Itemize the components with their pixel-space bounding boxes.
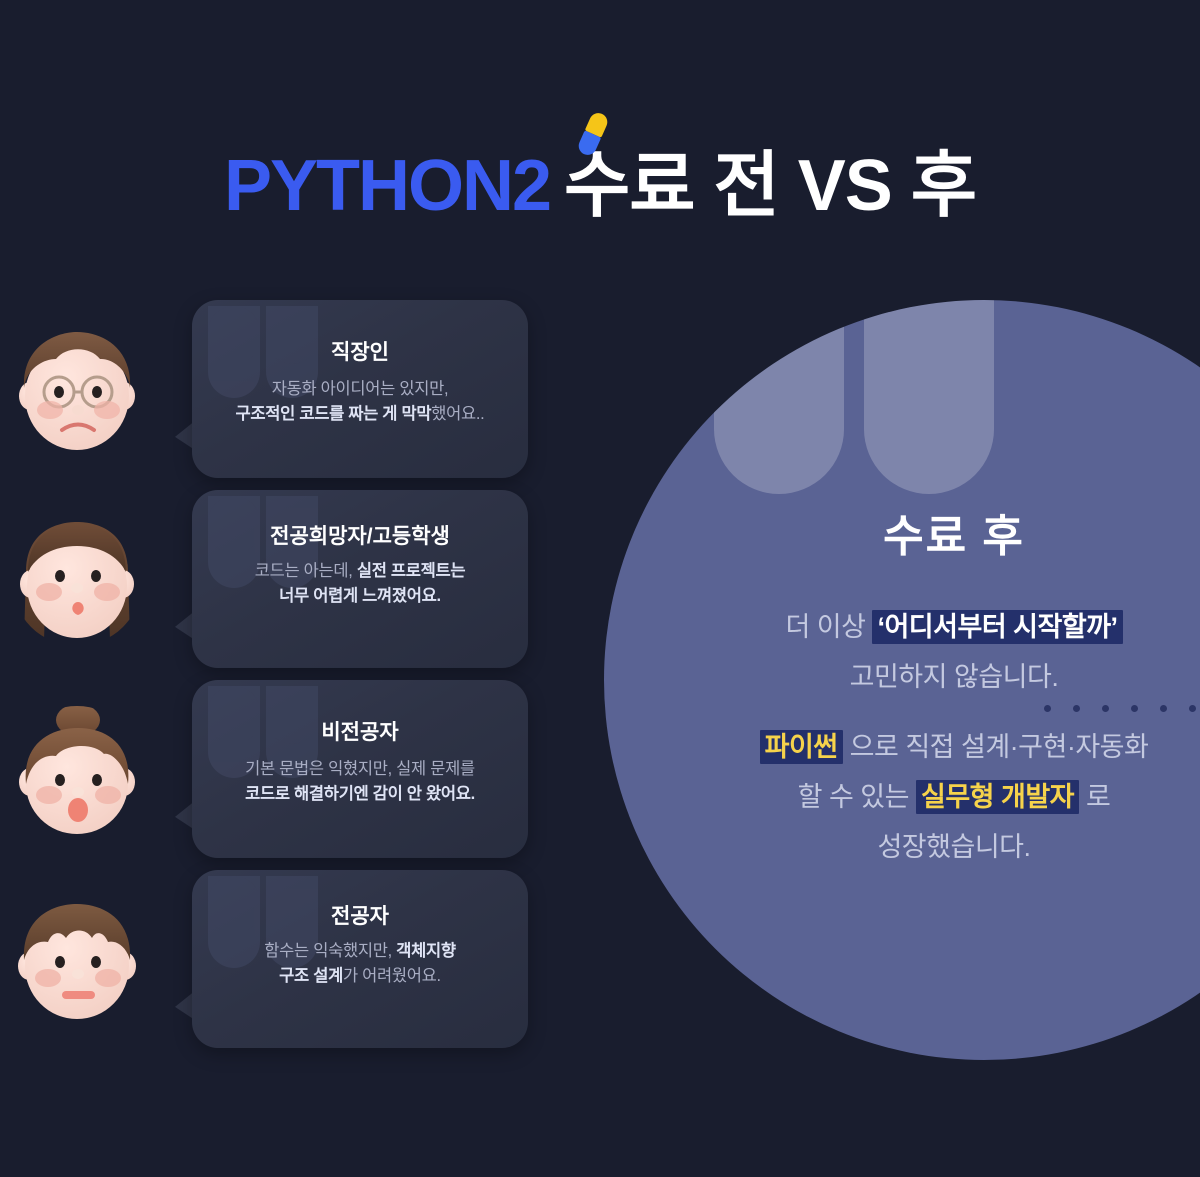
testimonial-line-1: 자동화 아이디어는 있지만, [210,377,510,402]
testimonial-line-2: 구조적인 코드를 짜는 게 막막했어요.. [210,402,510,427]
face-boy-bowlcut-neutral-icon [12,896,142,1026]
after-line-1: 더 이상 ‘어디서부터 시작할까’ [604,605,1200,644]
highlight-python: 파이썬 [760,730,843,764]
testimonial-role: 전공자 [210,906,510,927]
face-man-glasses-frown-icon [12,326,142,456]
testimonial-row: 비전공자 기본 문법은 익혔지만, 실제 문제를 코드로 해결하기엔 감이 안 … [0,680,560,870]
after-heading: 수료 후 [604,500,1200,564]
after-circle-panel: 수료 후 더 이상 ‘어디서부터 시작할까’ 고민하지 않습니다. 파이썬 으로… [604,300,1200,1060]
testimonial-line-2: 너무 어렵게 느껴졌어요. [210,584,510,609]
speech-bubble: 전공희망자/고등학생 코드는 아는데, 실전 프로젝트는 너무 어렵게 느껴졌어… [192,490,528,668]
speech-bubble: 직장인 자동화 아이디어는 있지만, 구조적인 코드를 짜는 게 막막했어요.. [192,300,528,478]
before-testimonials-list: 직장인 자동화 아이디어는 있지만, 구조적인 코드를 짜는 게 막막했어요.. [0,300,560,1060]
testimonial-role: 직장인 [210,342,510,363]
face-woman-bun-surprised-icon [12,706,142,836]
testimonial-role: 전공희망자/고등학생 [210,526,510,547]
testimonial-row: 직장인 자동화 아이디어는 있지만, 구조적인 코드를 짜는 게 막막했어요.. [0,300,560,490]
dotted-decoration-icon [1044,705,1200,713]
testimonial-row: 전공희망자/고등학생 코드는 아는데, 실전 프로젝트는 너무 어렵게 느껴졌어… [0,490,560,680]
testimonial-role: 비전공자 [210,722,510,743]
face-girl-long-hair-surprised-icon [12,516,142,646]
testimonial-row: 전공자 함수는 익숙했지만, 객체지향 구조 설계가 어려웠어요. [0,870,560,1060]
after-line-2: 고민하지 않습니다. [604,655,1200,694]
speech-bubble: 비전공자 기본 문법은 익혔지만, 실제 문제를 코드로 해결하기엔 감이 안 … [192,680,528,858]
after-line-3: 파이썬 으로 직접 설계·구현·자동화 [604,725,1200,764]
highlight-start-question: ‘어디서부터 시작할까’ [872,610,1122,644]
testimonial-line-1: 코드는 아는데, 실전 프로젝트는 [210,559,510,584]
testimonial-line-1: 기본 문법은 익혔지만, 실제 문제를 [210,757,510,782]
testimonial-line-1: 함수는 익숙했지만, 객체지향 [210,939,510,964]
testimonial-line-2: 구조 설계가 어려웠어요. [210,964,510,989]
speech-bubble: 전공자 함수는 익숙했지만, 객체지향 구조 설계가 어려웠어요. [192,870,528,1048]
after-line-5: 성장했습니다. [604,825,1200,864]
highlight-practical-developer: 실무형 개발자 [916,780,1079,814]
page-title: PYTHON2수료 전 VS 후 [0,150,1200,222]
title-rest-text: 수료 전 VS 후 [564,150,976,222]
testimonial-line-2: 코드로 해결하기엔 감이 안 왔어요. [210,782,510,807]
after-line-4: 할 수 있는 실무형 개발자 로 [604,775,1200,814]
title-highlight-word: PYTHON2 [224,150,550,222]
